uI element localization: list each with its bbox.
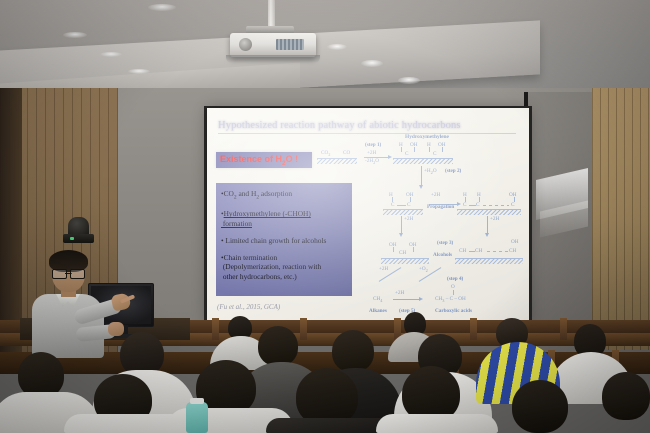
atom-ch-label: CH bbox=[475, 248, 482, 254]
ceiling-light bbox=[327, 44, 347, 50]
ceiling-light bbox=[361, 60, 383, 67]
step-2-arrow bbox=[421, 166, 422, 186]
surface-hatch bbox=[383, 209, 423, 215]
chem-bond bbox=[453, 290, 454, 295]
product-alcohols-label: Alcohols bbox=[433, 252, 452, 258]
surface-hatch bbox=[381, 258, 429, 264]
bullet-item: • Limited chain growth for alcohols bbox=[221, 236, 347, 245]
audience-head bbox=[332, 330, 374, 372]
bottle-cap bbox=[190, 398, 204, 404]
audience-head bbox=[512, 380, 568, 433]
audience-shoulders bbox=[376, 414, 498, 433]
atom-ch-label: CH bbox=[399, 250, 406, 256]
atom-c-label: C bbox=[405, 151, 408, 157]
surface-hatch bbox=[393, 158, 453, 164]
propagation-label: Propagation bbox=[427, 204, 454, 210]
audience-head bbox=[258, 326, 298, 366]
chem-bond bbox=[469, 205, 476, 206]
chem-bond bbox=[401, 147, 402, 152]
step-5-reagent: +2H bbox=[395, 290, 404, 296]
highlight-box: Existence of H2O ! bbox=[216, 152, 312, 168]
product-alkanes-label: Alkanes bbox=[369, 308, 387, 314]
wall-camera-led-icon bbox=[70, 237, 74, 240]
chem-bond bbox=[414, 147, 415, 152]
surface-hatch bbox=[457, 209, 521, 215]
atom-ch-label: CH bbox=[459, 248, 466, 254]
chem-bond bbox=[465, 197, 466, 202]
atom-ch-label: CH bbox=[509, 248, 516, 254]
projector-lens-icon bbox=[239, 38, 252, 51]
product-alkane-formula: CH4 bbox=[373, 296, 382, 303]
bench-slat bbox=[300, 318, 307, 340]
ceiling-light bbox=[148, 4, 176, 11]
reaction-diagram: Hydroxymethylene CO2 CO (step 1) +2H -2H… bbox=[359, 136, 525, 316]
step-2-reagent: +H2O bbox=[424, 168, 437, 175]
projection-screen: Hypothesized reaction pathway of abiotic… bbox=[207, 108, 529, 323]
step-3-reagent: +2H bbox=[404, 216, 413, 222]
bench-slat bbox=[560, 318, 567, 340]
chem-bond bbox=[514, 197, 515, 202]
chem-bond bbox=[410, 197, 411, 202]
atom-oh-label: OH bbox=[511, 239, 519, 245]
presentation-slide: Hypothesized reaction pathway of abiotic… bbox=[207, 108, 529, 323]
title-divider bbox=[218, 133, 516, 134]
atom-c-label: C bbox=[511, 202, 514, 208]
chem-bond-dashed bbox=[483, 205, 509, 206]
step-1-reagent: +2H bbox=[367, 150, 376, 156]
bench-slat bbox=[212, 318, 219, 340]
surface-hatch bbox=[455, 258, 523, 264]
surface-hatch bbox=[317, 158, 357, 164]
presenter-hand-lower bbox=[108, 322, 124, 336]
step-3-arrow-left bbox=[401, 216, 402, 234]
chem-bond bbox=[413, 247, 414, 252]
slide-citation: (Fu et al., 2015, GCA) bbox=[217, 303, 280, 311]
bench-slat bbox=[470, 318, 477, 340]
ceiling-light bbox=[100, 52, 122, 57]
atom-c-label: C bbox=[391, 202, 394, 208]
ceiling-light bbox=[63, 32, 87, 38]
presenter-speaking bbox=[20, 250, 138, 356]
water-bottle bbox=[186, 402, 208, 433]
reactant-co2-label: CO2 bbox=[321, 150, 330, 157]
propagation-reagent: +2H bbox=[431, 192, 440, 198]
product-carboxylic-acids-label: Carboxylic acids bbox=[435, 308, 472, 314]
step-1-byproduct: -2H2O bbox=[365, 158, 379, 165]
bullet-list-box: •CO2 and H2 adsorption •Hydroxymethylene… bbox=[216, 183, 352, 296]
chem-bond bbox=[392, 197, 393, 202]
step-2-label: (step 2) bbox=[445, 168, 461, 174]
atom-c-label: C bbox=[433, 151, 436, 157]
slide-title: Hypothesized reaction pathway of abiotic… bbox=[218, 120, 518, 131]
chem-bond bbox=[479, 197, 480, 202]
step-1-label: (step 1) bbox=[365, 142, 381, 148]
chem-bond bbox=[397, 205, 406, 206]
projector-vent bbox=[276, 39, 304, 50]
step-3-arrow-right bbox=[487, 216, 488, 234]
bullet-item: •CO2 and H2 adsorption bbox=[221, 189, 347, 201]
atom-c-label: C bbox=[407, 202, 410, 208]
chem-bond bbox=[393, 247, 394, 252]
step-4-label: (step 4) bbox=[447, 276, 463, 282]
step-5-arrow bbox=[393, 299, 419, 300]
step-4-reagent: +O2 bbox=[419, 266, 428, 273]
right-wood-wall bbox=[592, 88, 650, 350]
ceiling-light bbox=[128, 69, 150, 74]
lecture-hall-photo: Hypothesized reaction pathway of abiotic… bbox=[0, 0, 650, 433]
atom-c-label: C bbox=[476, 202, 479, 208]
step-3-label: (step 3) bbox=[437, 240, 453, 246]
glasses-icon bbox=[52, 269, 85, 277]
atom-oh-label: OH bbox=[509, 192, 517, 198]
step-3-reagent: +2H bbox=[490, 216, 499, 222]
diagram-header-label: Hydroxymethylene bbox=[405, 134, 449, 140]
ceiling-light bbox=[398, 77, 420, 84]
bullet-item: •Hydroxymethylene (-CHOH) formation bbox=[221, 209, 347, 228]
product-acid-formula: CH3 – C – OH bbox=[435, 296, 466, 303]
reactant-co-label: CO bbox=[343, 150, 350, 156]
bullet-item: •Chain termination (Depolymerization, re… bbox=[221, 253, 347, 281]
atom-c-label: C bbox=[463, 202, 466, 208]
chem-bond bbox=[442, 147, 443, 152]
chem-bond bbox=[429, 147, 430, 152]
projector-shadow bbox=[226, 55, 320, 63]
left-wall-shadow bbox=[0, 88, 22, 356]
highlight-box-label: Existence of H2O ! bbox=[220, 154, 298, 167]
chem-bond-dashed bbox=[487, 251, 509, 252]
wall-camera-base bbox=[63, 234, 94, 243]
audience-head bbox=[602, 372, 650, 420]
step-4-reagent: +2H bbox=[379, 266, 388, 272]
